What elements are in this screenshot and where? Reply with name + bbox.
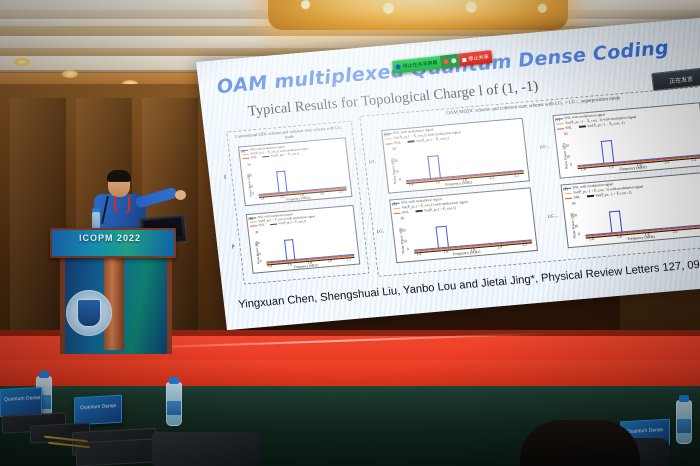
mode-label-lgm1-p: LG₋₁: [548, 213, 558, 220]
plot-b-id: (b): [248, 216, 253, 221]
left-p-quadrature-label: P̂: [231, 245, 235, 250]
lanyard: [114, 196, 130, 214]
share-indicator-icon: [395, 64, 401, 70]
legend-item: SNL: [251, 155, 257, 160]
plot-e-id: (e): [555, 116, 561, 121]
name-card: Quantum Dense: [0, 387, 42, 417]
pointing-hand: [175, 190, 186, 200]
left-x-quadrature-label: X̂: [223, 176, 227, 181]
water-bottle: [676, 400, 692, 444]
plot-panel-d: SNL with modulation signal Var(P̂_pr,1 +…: [389, 187, 538, 263]
legend-item: Var(X̂_pr,1 − X̂_con,1): [270, 152, 299, 159]
plot-panel-e: SNL with modulation signal Var(X̂_pr,−1 …: [552, 102, 700, 178]
audience-member-silhouette: [520, 420, 640, 466]
plot-a-id: (a): [240, 148, 245, 153]
legend-item: SNL: [258, 223, 264, 228]
podium-banner-text: ICOPM 2022: [54, 233, 166, 243]
plot-panel-f: SNL with modulation signal Var(P̂_pr,−1 …: [561, 172, 700, 248]
university-emblem: [66, 290, 112, 336]
legend-item: SNL: [573, 195, 580, 200]
name-card-label: Quantum Dense: [4, 395, 38, 403]
mode-label-lg1-p: LG₁: [376, 228, 384, 234]
legend-item: SNL: [565, 125, 572, 130]
plot-panel-a: SNL with modulation signal Var(X̂_pr,1 −…: [238, 137, 353, 206]
plot-d-id: (d): [391, 201, 397, 206]
mode-label-lgm1-x: LG₋₁: [540, 143, 550, 150]
stop-share-label: 停止共享: [468, 53, 489, 62]
stop-square-icon: [462, 57, 466, 61]
chandelier-light: [268, 0, 568, 30]
podium: ICOPM 2022: [50, 228, 172, 354]
laptop-bag: [152, 432, 260, 466]
name-card-label: Quantum Dense: [78, 403, 118, 411]
sharing-status-label: 停止在共享屏幕: [402, 59, 438, 70]
conference-hall-photo: OAM multiplexed Quantum Dense Coding Typ…: [0, 0, 700, 466]
legend-item: Var(P̂_pr,1 + P̂_con,1): [278, 219, 306, 226]
mode-label-lg1-x: LG₁: [368, 159, 376, 165]
pencil-icon[interactable]: [443, 59, 449, 65]
legend-item: SNL: [402, 210, 409, 215]
plot-c-id: (c): [383, 131, 389, 136]
glasses-icon: [110, 181, 128, 186]
speaking-status-label: 正在发言: [669, 73, 694, 85]
share-controls-group[interactable]: [440, 54, 460, 69]
legend-item: SNL: [394, 140, 401, 145]
name-card: Quantum Dense: [74, 395, 122, 426]
plot-panel-b: SNL with modulation signal Var(P̂_pr,1 +…: [246, 205, 361, 274]
plot-f-id: (f): [563, 186, 568, 191]
gear-icon[interactable]: [451, 58, 457, 64]
plot-panel-c: SNL with modulation signal Var(X̂_pr,1 −…: [381, 118, 530, 194]
water-bottle: [166, 382, 182, 426]
